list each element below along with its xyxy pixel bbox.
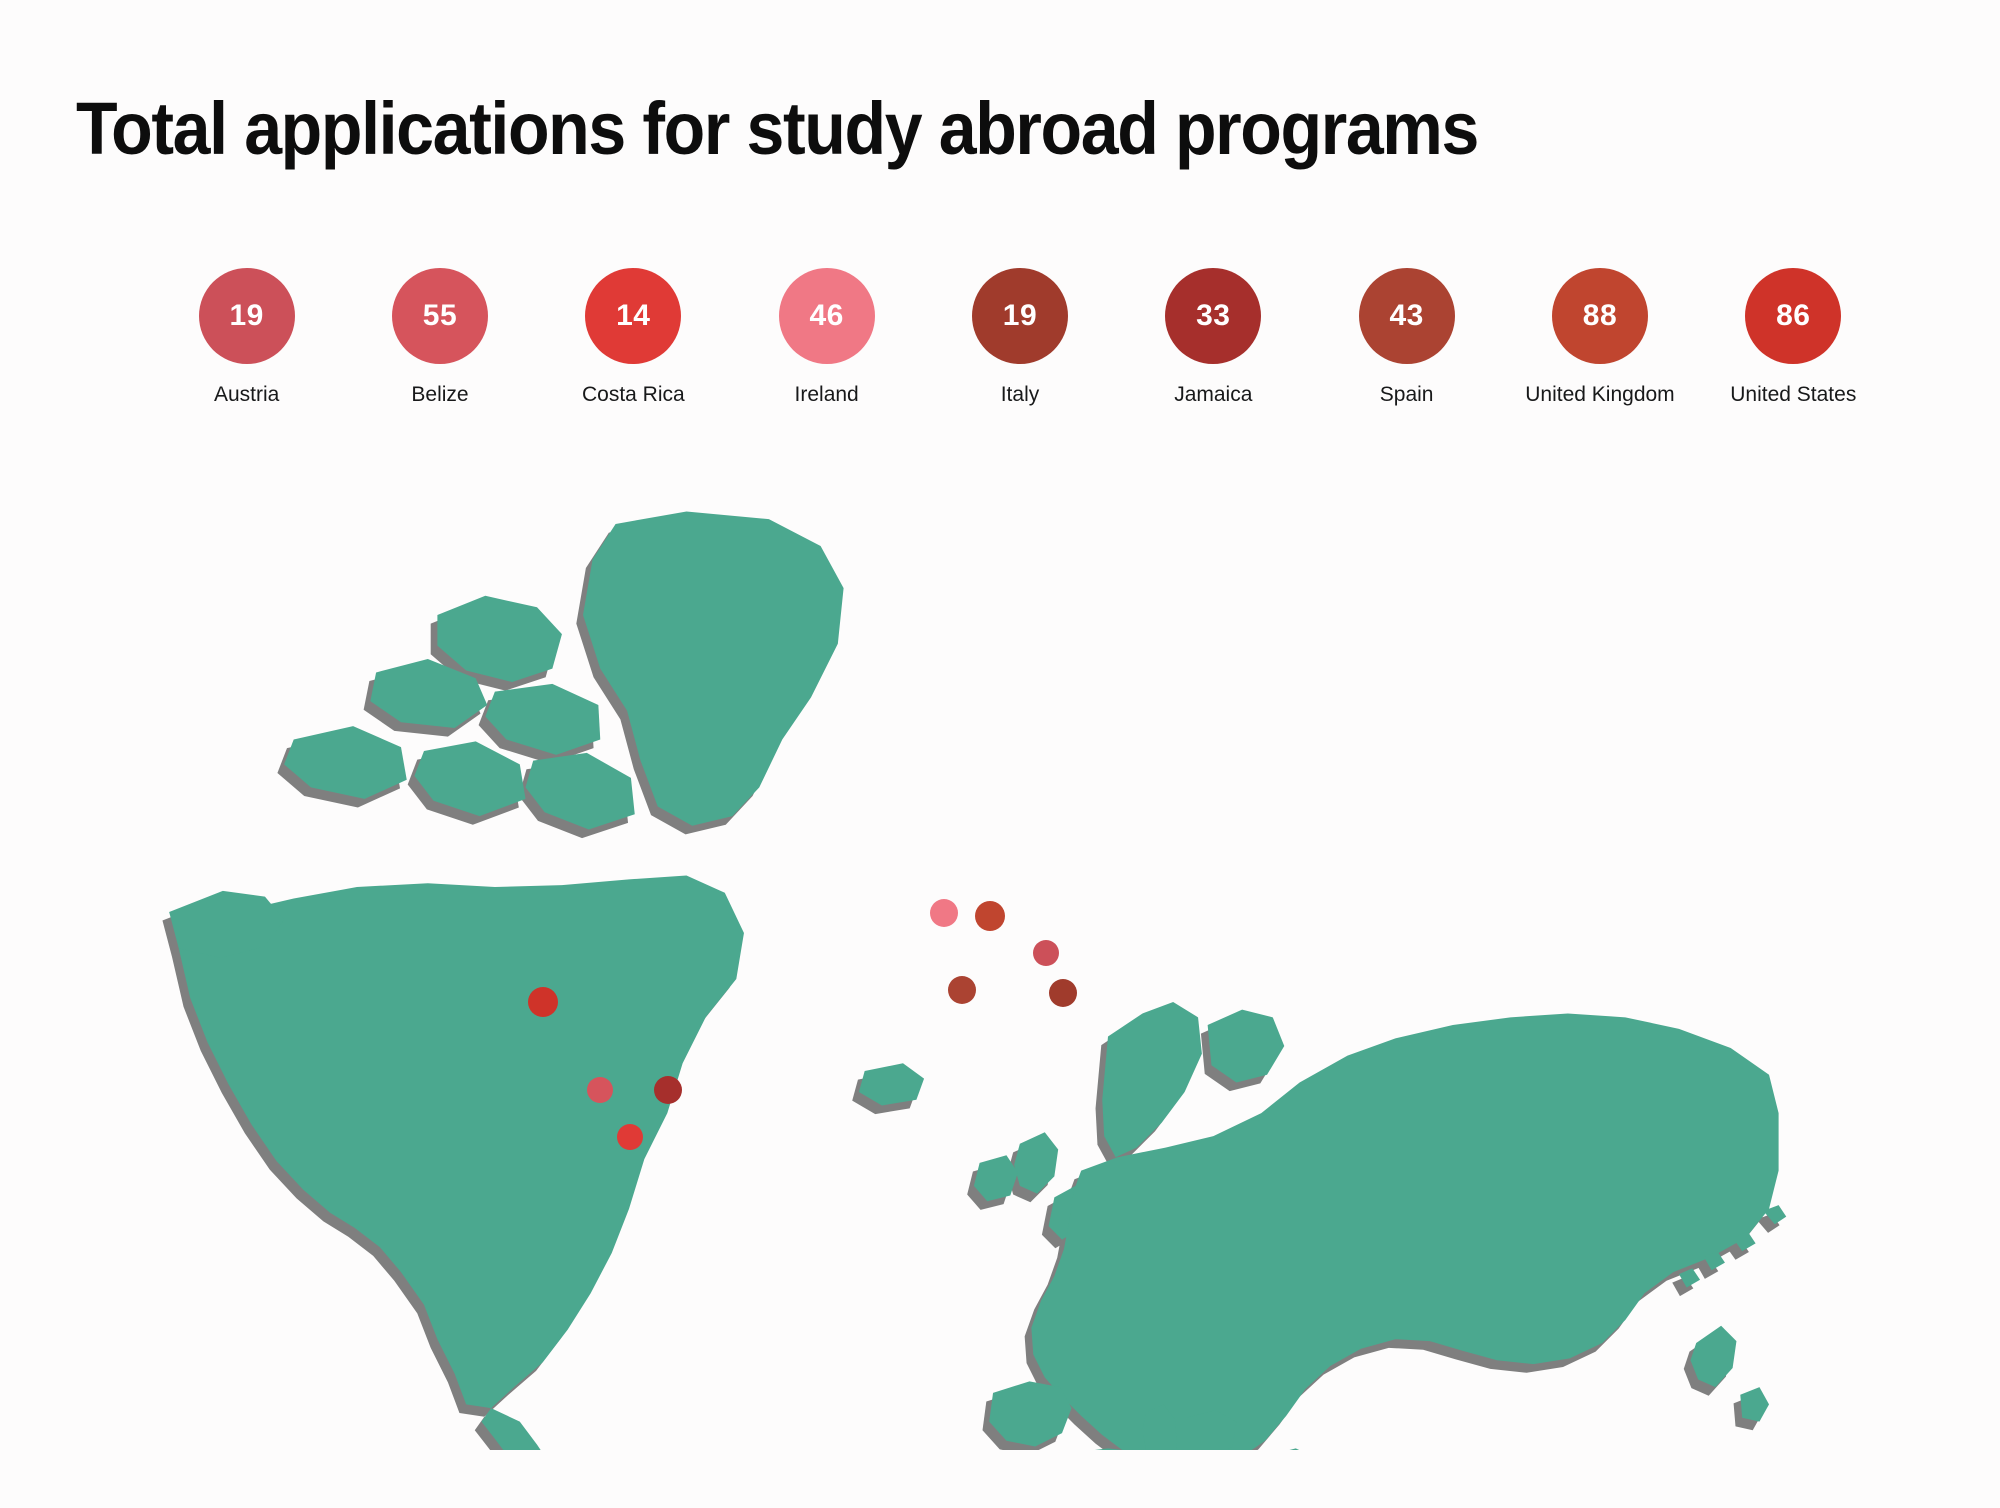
- map-dot[interactable]: [975, 901, 1005, 931]
- bubble-value-circle[interactable]: 46: [779, 268, 875, 364]
- map-dot[interactable]: [1049, 979, 1077, 1007]
- bubble-value-circle[interactable]: 88: [1552, 268, 1648, 364]
- bubble-label: Italy: [1001, 382, 1040, 408]
- page-title: Total applications for study abroad prog…: [76, 86, 1478, 171]
- bubble-label: United States: [1730, 382, 1856, 408]
- world-map: [150, 500, 1850, 1450]
- bubble-item[interactable]: 55Belize: [343, 268, 536, 408]
- bubble-value-circle[interactable]: 14: [585, 268, 681, 364]
- bubble-item[interactable]: 19Austria: [150, 268, 343, 408]
- bubble-value-circle[interactable]: 55: [392, 268, 488, 364]
- bubble-value-circle[interactable]: 43: [1359, 268, 1455, 364]
- world-map-svg: [150, 500, 1850, 1450]
- bubble-label: United Kingdom: [1525, 382, 1674, 408]
- map-dot[interactable]: [948, 976, 976, 1004]
- map-dot[interactable]: [1033, 940, 1059, 966]
- bubble-value-circle[interactable]: 19: [199, 268, 295, 364]
- bubble-value-circle[interactable]: 19: [972, 268, 1068, 364]
- bubble-value-circle[interactable]: 86: [1745, 268, 1841, 364]
- bubble-label: Spain: [1380, 382, 1434, 408]
- map-dot[interactable]: [528, 987, 558, 1017]
- bubble-label: Austria: [214, 382, 279, 408]
- bubble-item[interactable]: 14Costa Rica: [537, 268, 730, 408]
- bubble-item[interactable]: 33Jamaica: [1117, 268, 1310, 408]
- map-dot[interactable]: [617, 1124, 643, 1150]
- map-dot[interactable]: [930, 899, 958, 927]
- bubble-label: Belize: [411, 382, 468, 408]
- bubble-value-circle[interactable]: 33: [1165, 268, 1261, 364]
- bubble-item[interactable]: 86United States: [1697, 268, 1890, 408]
- bubble-item[interactable]: 19Italy: [923, 268, 1116, 408]
- bubble-item[interactable]: 88United Kingdom: [1503, 268, 1696, 408]
- bubble-label: Costa Rica: [582, 382, 685, 408]
- map-dot[interactable]: [587, 1077, 613, 1103]
- bubble-item[interactable]: 46Ireland: [730, 268, 923, 408]
- bubble-item[interactable]: 43Spain: [1310, 268, 1503, 408]
- bubble-label: Jamaica: [1174, 382, 1252, 408]
- bubble-label: Ireland: [795, 382, 859, 408]
- map-dot[interactable]: [654, 1076, 682, 1104]
- bubble-legend-row: 19Austria55Belize14Costa Rica46Ireland19…: [150, 268, 1890, 408]
